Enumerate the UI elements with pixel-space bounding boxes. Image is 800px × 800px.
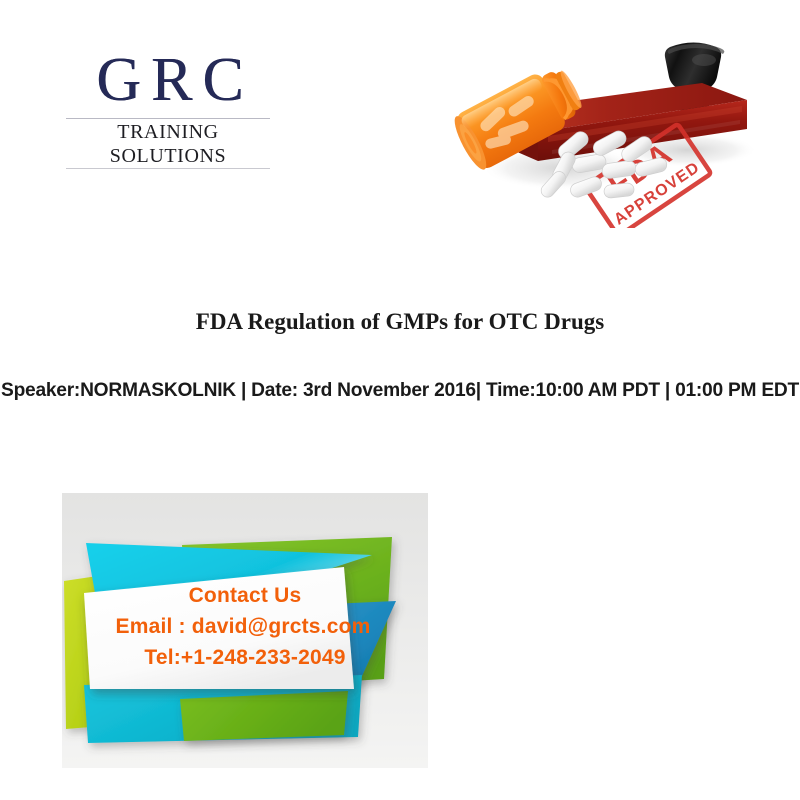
page-title: FDA Regulation of GMPs for OTC Drugs (0, 308, 800, 336)
poster-page: GRC TRAINING SOLUTIONS (0, 0, 800, 800)
logo-tagline: TRAINING SOLUTIONS (66, 119, 270, 168)
hero-image-pill-bottle-fda-stamp: FDA APPROVED (452, 28, 772, 228)
logo-divider-bottom (66, 168, 270, 169)
contact-banner-graphic (62, 493, 428, 768)
logo-wordmark: GRC (66, 48, 276, 112)
grc-logo: GRC TRAINING SOLUTIONS (66, 48, 276, 148)
hero-illustration: FDA APPROVED (452, 28, 772, 228)
contact-us-banner: Contact Us Email : david@grcts.com Tel:+… (62, 493, 428, 768)
speaker-date-time-line: Speaker:NORMASKOLNIK | Date: 3rd Novembe… (0, 379, 800, 403)
